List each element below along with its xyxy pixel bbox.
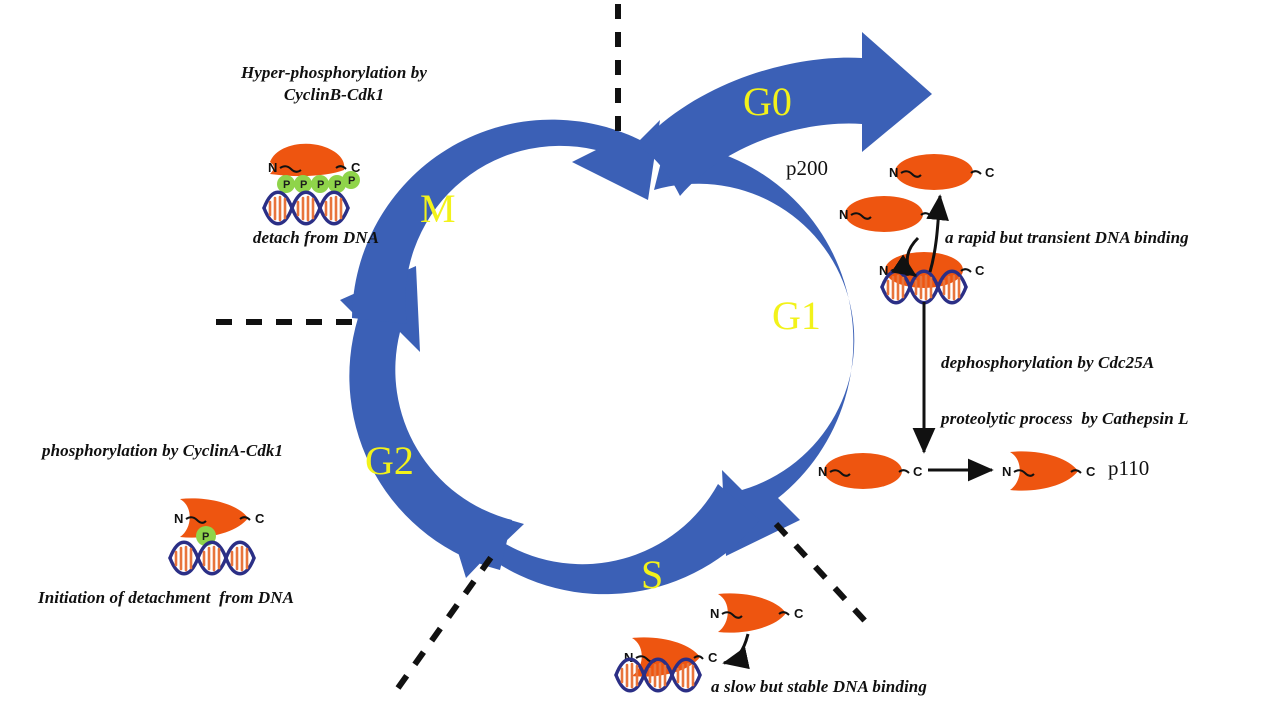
phase-label-s: S [641, 551, 663, 598]
arrow-p110-binding [724, 634, 748, 663]
n-terminus-label-p110-free: N [710, 606, 719, 621]
species-p110-free: N C [710, 593, 804, 632]
figure-canvas: N C P P P P P N C [0, 0, 1280, 712]
c-terminus-label-p110: C [1086, 464, 1096, 479]
phase-label-m: M [420, 185, 456, 232]
n-terminus-label-p200-top: N [889, 165, 898, 180]
c-terminus-label-p110-bound: C [708, 650, 718, 665]
dna-helix-m [264, 192, 348, 224]
n-terminus-label-p110: N [1002, 464, 1011, 479]
caption-dephosphorylation: dephosphorylation by Cdc25A [941, 352, 1154, 374]
dna-helix-g2 [170, 542, 254, 574]
caption-detach-from-dna: detach from DNA [196, 227, 436, 249]
species-p200-free-left: N C [839, 196, 945, 232]
c-terminus-label-p200-top: C [985, 165, 995, 180]
svg-text:P: P [317, 179, 324, 191]
svg-text:P: P [202, 531, 209, 543]
caption-phosphorylation-cyclina: phosphorylation by CyclinA-Cdk1 [42, 440, 283, 462]
svg-text:P: P [348, 175, 355, 187]
p200-label: p200 [786, 156, 828, 181]
svg-text:P: P [334, 179, 341, 191]
c-terminus-label-p110-free: C [794, 606, 804, 621]
svg-text:P: P [283, 179, 290, 191]
cycle-arc-g1 [654, 142, 854, 556]
n-terminus-label-precleave: N [818, 464, 827, 479]
species-hyperphosphorylated-p110: N C P P P P P [264, 144, 361, 224]
caption-hyper-phosphorylation: Hyper-phosphorylation by CyclinB-Cdk1 [184, 62, 484, 106]
species-p200-free-top: N C [889, 154, 995, 190]
n-terminus-label-g2: N [174, 511, 183, 526]
caption-proteolytic-process: proteolytic process by Cathepsin L [941, 408, 1189, 430]
cycle-arc-m [352, 120, 660, 324]
cell-cycle-arrow-ring [340, 32, 932, 594]
caption-slow-stable-binding: a slow but stable DNA binding [711, 676, 927, 698]
phase-label-g0: G0 [743, 78, 792, 125]
n-terminus-label-m: N [268, 160, 277, 175]
c-terminus-label-g2: C [255, 511, 265, 526]
c-terminus-label-precleave: C [913, 464, 923, 479]
phase-label-g2: G2 [365, 437, 414, 484]
species-p110: N C [1002, 451, 1096, 490]
caption-rapid-transient-binding: a rapid but transient DNA binding [945, 227, 1189, 249]
caption-initiation-detachment: Initiation of detachment from DNA [38, 587, 294, 609]
dash-bottom-left-diagonal [398, 556, 492, 688]
species-monophosphorylated-p110: N C P [170, 498, 265, 573]
species-group-cleavage: N C N C [818, 451, 1096, 490]
dash-bottom-right-diagonal [776, 524, 866, 622]
species-p110-dna-bound: N C [616, 637, 718, 690]
species-p200-precleavage: N C [818, 453, 923, 489]
svg-text:P: P [300, 179, 307, 191]
p110-label: p110 [1108, 456, 1149, 481]
c-terminus-label-p200-bound: C [975, 263, 985, 278]
n-terminus-label-p200-left: N [839, 207, 848, 222]
phase-label-g1: G1 [772, 292, 821, 339]
